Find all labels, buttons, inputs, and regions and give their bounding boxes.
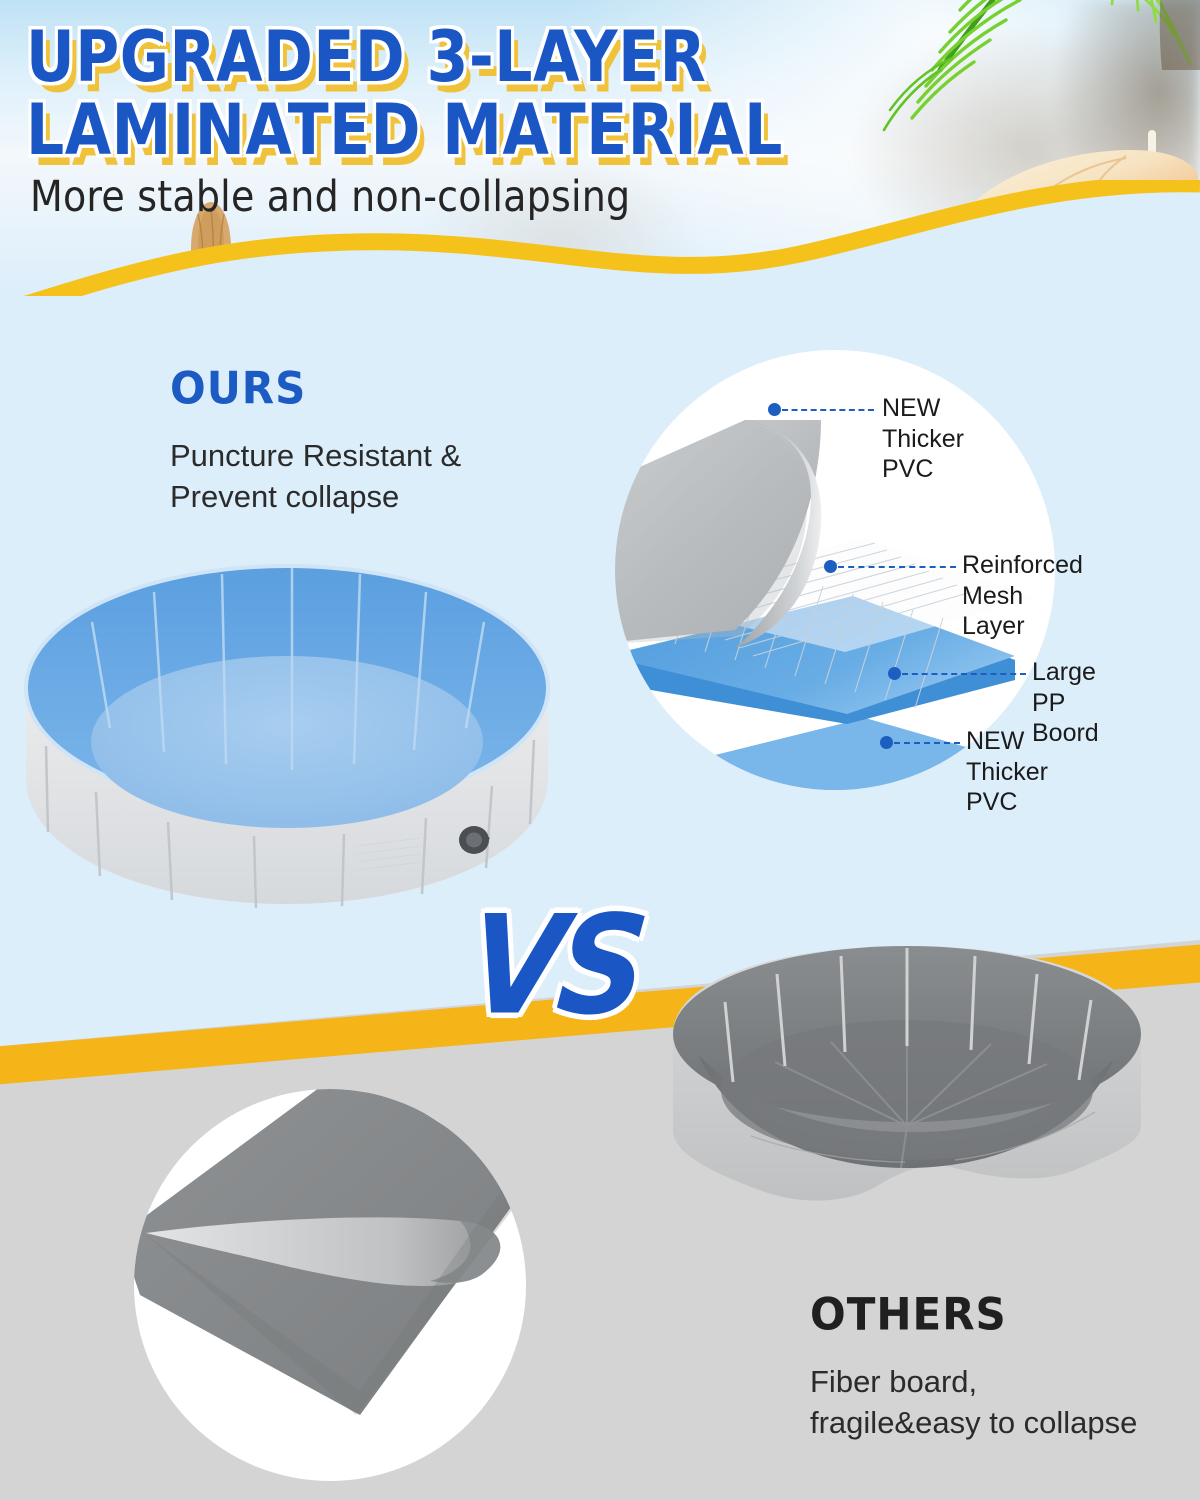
others-pool-product-image [655, 930, 1155, 1260]
callout-leader-line [894, 742, 960, 744]
callout-leader-line [902, 673, 1026, 675]
infographic-page: UPGRADED 3-LAYER LAMINATED MATERIAL More… [0, 0, 1200, 1500]
vs-badge: VS [463, 886, 648, 1045]
ours-label: OURS [170, 362, 306, 414]
others-label: OTHERS [810, 1288, 1007, 1340]
callout-leader-line [838, 566, 956, 568]
page-title: UPGRADED 3-LAYER LAMINATED MATERIAL [26, 22, 926, 168]
callout-dot [888, 667, 901, 680]
callout-dot [880, 736, 893, 749]
callout-dot [768, 403, 781, 416]
yellow-wave-divider [0, 180, 1200, 300]
others-material-image [130, 1085, 550, 1490]
callout-dot [824, 560, 837, 573]
others-description: Fiber board, fragile&easy to collapse [810, 1362, 1140, 1444]
callout-leader-line [782, 409, 874, 411]
callout-label: NEW Thicker PVC [882, 393, 964, 485]
title-line-1: UPGRADED 3-LAYER [26, 16, 706, 99]
callout-label: NEW Thicker PVC [966, 726, 1048, 818]
callout-label: Reinforced Mesh Layer [962, 550, 1083, 642]
ours-description: Puncture Resistant & Prevent collapse [170, 436, 530, 518]
ours-pool-product-image [22, 556, 552, 916]
title-line-2: LAMINATED MATERIAL [26, 95, 926, 168]
header-banner: UPGRADED 3-LAYER LAMINATED MATERIAL More… [0, 0, 1200, 300]
